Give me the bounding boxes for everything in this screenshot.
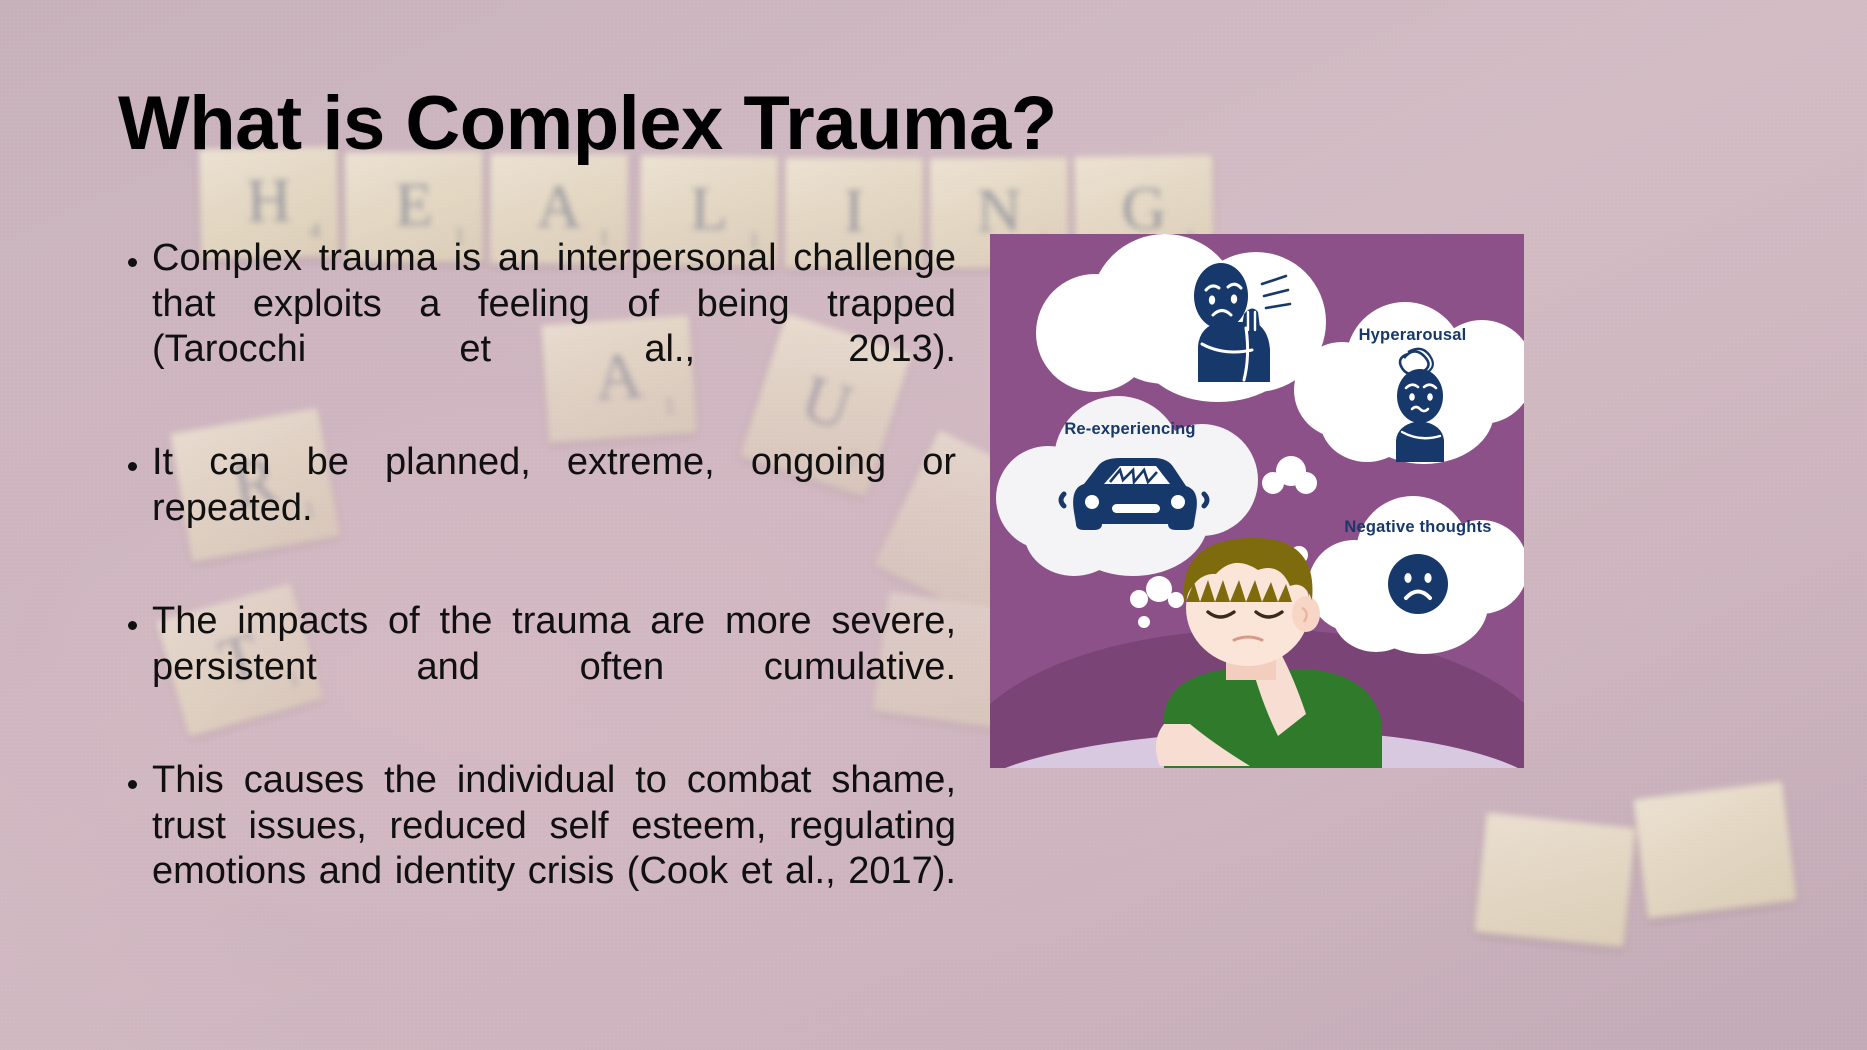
list-item-text: It can be planned, extreme, ongoing or r…	[152, 440, 956, 577]
bullet-marker-icon	[128, 621, 137, 630]
list-item-text: The impacts of the trauma are more sever…	[152, 599, 956, 736]
distressed-person-icon	[1368, 344, 1472, 464]
bullet-list: Complex trauma is an interpersonal chall…	[118, 236, 956, 940]
list-item-text: This causes the individual to combat sha…	[152, 758, 956, 940]
list-item: This causes the individual to combat sha…	[118, 758, 956, 940]
anxious-person-icon	[1158, 254, 1288, 384]
boy-head-in-hand-icon	[1130, 528, 1430, 768]
thought-puff	[1493, 534, 1515, 556]
page-title: What is Complex Trauma?	[118, 84, 1057, 164]
list-item: It can be planned, extreme, ongoing or r…	[118, 440, 956, 577]
list-item: The impacts of the trauma are more sever…	[118, 599, 956, 736]
bubble-label: Re-experiencing	[996, 420, 1264, 439]
slide-canvas: H 4 E 1 A 1 L 1 I 1 N 1	[0, 0, 1867, 1050]
bullet-marker-icon	[128, 462, 137, 471]
illustration-image: Hyperarousal	[990, 234, 1524, 768]
bubble-hyperarousal: Hyperarousal	[1290, 286, 1524, 476]
list-item: Complex trauma is an interpersonal chall…	[118, 236, 956, 418]
thought-puff	[1262, 472, 1284, 494]
bullet-marker-icon	[128, 780, 137, 789]
bullet-marker-icon	[128, 258, 137, 267]
bubble-label: Hyperarousal	[1290, 326, 1524, 345]
list-item-text: Complex trauma is an interpersonal chall…	[152, 236, 956, 418]
